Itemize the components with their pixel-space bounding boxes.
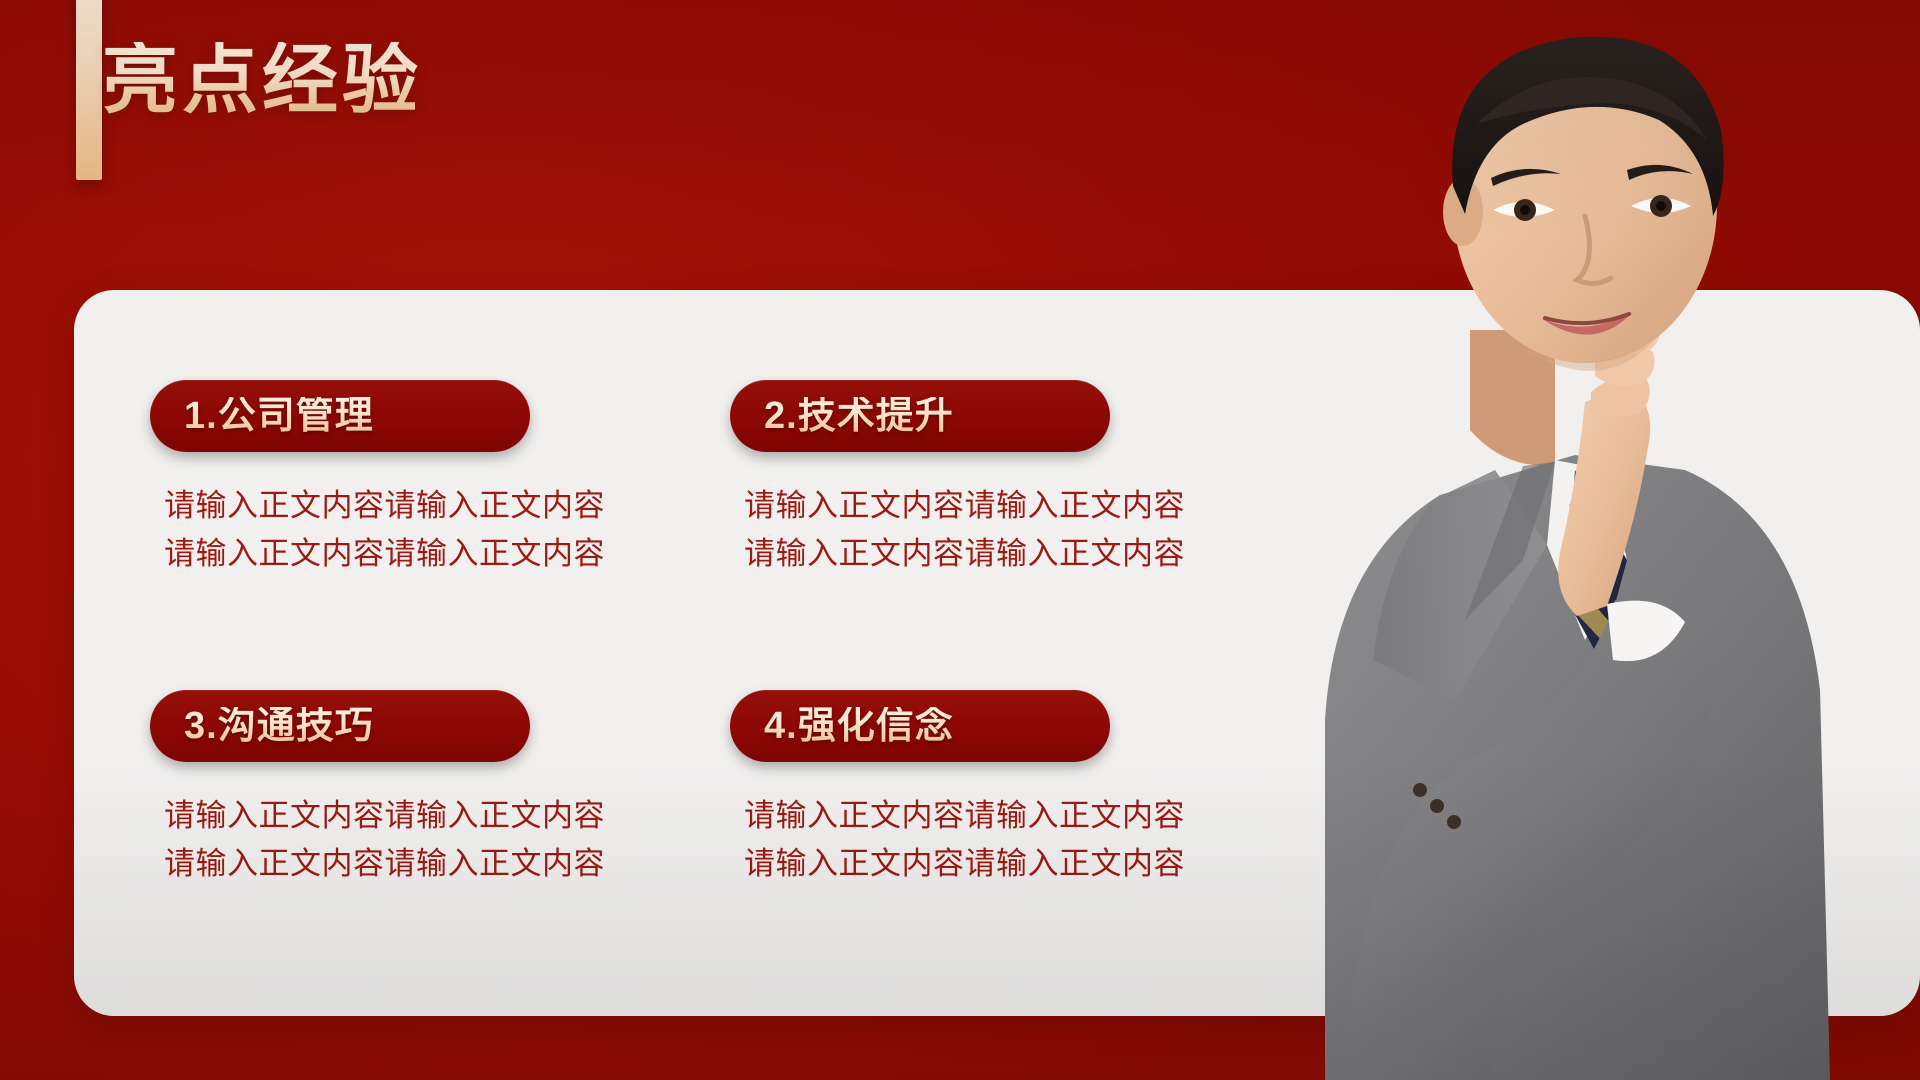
highlight-item-3: 3.沟通技巧 请输入正文内容请输入正文内容 请输入正文内容请输入正文内容 bbox=[150, 690, 730, 940]
highlight-body-line: 请输入正文内容请输入正文内容 bbox=[744, 792, 1270, 840]
highlight-body-line: 请输入正文内容请输入正文内容 bbox=[744, 530, 1270, 578]
highlight-body-2: 请输入正文内容请输入正文内容 请输入正文内容请输入正文内容 bbox=[744, 482, 1270, 578]
highlight-pill-3[interactable]: 3.沟通技巧 bbox=[150, 690, 530, 762]
highlight-pill-label-2: 2.技术提升 bbox=[764, 397, 954, 435]
highlight-pill-2[interactable]: 2.技术提升 bbox=[730, 380, 1110, 452]
highlight-body-line: 请输入正文内容请输入正文内容 bbox=[164, 482, 730, 530]
highlight-item-4: 4.强化信念 请输入正文内容请输入正文内容 请输入正文内容请输入正文内容 bbox=[730, 690, 1270, 940]
highlight-pill-1[interactable]: 1.公司管理 bbox=[150, 380, 530, 452]
title-accent-bar bbox=[76, 0, 102, 180]
highlight-pill-label-1: 1.公司管理 bbox=[184, 397, 374, 435]
highlight-body-line: 请输入正文内容请输入正文内容 bbox=[744, 840, 1270, 888]
highlight-body-line: 请输入正文内容请输入正文内容 bbox=[744, 482, 1270, 530]
highlight-body-line: 请输入正文内容请输入正文内容 bbox=[164, 840, 730, 888]
highlight-body-3: 请输入正文内容请输入正文内容 请输入正文内容请输入正文内容 bbox=[164, 792, 730, 888]
highlight-body-4: 请输入正文内容请输入正文内容 请输入正文内容请输入正文内容 bbox=[744, 792, 1270, 888]
highlight-item-1: 1.公司管理 请输入正文内容请输入正文内容 请输入正文内容请输入正文内容 bbox=[150, 380, 730, 630]
highlight-pill-label-3: 3.沟通技巧 bbox=[184, 707, 374, 745]
highlight-body-line: 请输入正文内容请输入正文内容 bbox=[164, 792, 730, 840]
highlight-body-line: 请输入正文内容请输入正文内容 bbox=[164, 530, 730, 578]
page-title: 亮点经验 bbox=[102, 42, 422, 118]
highlight-item-2: 2.技术提升 请输入正文内容请输入正文内容 请输入正文内容请输入正文内容 bbox=[730, 380, 1270, 630]
slide-canvas: 亮点经验 1.公司管理 请输入正文内容请输入正文内容 请输入正文内容请输入正文内… bbox=[0, 0, 1920, 1080]
highlight-body-1: 请输入正文内容请输入正文内容 请输入正文内容请输入正文内容 bbox=[164, 482, 730, 578]
highlight-pill-4[interactable]: 4.强化信念 bbox=[730, 690, 1110, 762]
highlights-grid: 1.公司管理 请输入正文内容请输入正文内容 请输入正文内容请输入正文内容 2.技… bbox=[150, 380, 1270, 940]
highlight-pill-label-4: 4.强化信念 bbox=[764, 707, 954, 745]
